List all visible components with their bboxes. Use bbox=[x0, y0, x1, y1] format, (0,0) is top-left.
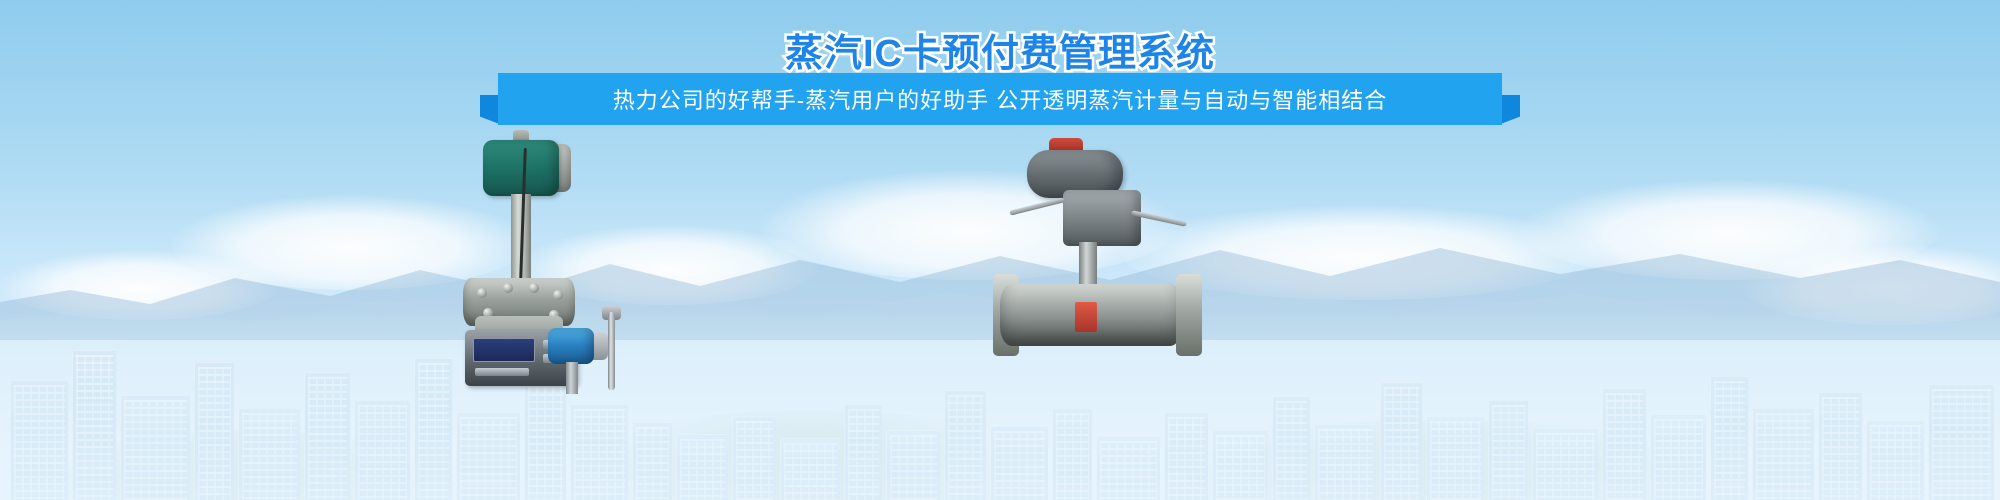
valve-stem bbox=[1079, 242, 1097, 290]
probe-rod bbox=[608, 312, 615, 390]
valve-positioner-box bbox=[1063, 190, 1141, 246]
valve-linkage-arm bbox=[1009, 197, 1065, 215]
valve-nameplate bbox=[1075, 302, 1097, 332]
pneumatic-control-valve bbox=[1005, 142, 1190, 372]
controller-display bbox=[473, 338, 535, 362]
transmitter-stem bbox=[566, 362, 578, 394]
subtitle-ribbon: 热力公司的好帮手-蒸汽用户的好助手 公开透明蒸汽计量与自动与智能相结合 bbox=[480, 73, 1520, 125]
ribbon-bar: 热力公司的好帮手-蒸汽用户的好助手 公开透明蒸汽计量与自动与智能相结合 bbox=[498, 73, 1502, 125]
controller-keypad bbox=[475, 368, 529, 376]
temperature-probe bbox=[598, 312, 626, 392]
transmitter-head bbox=[548, 328, 594, 364]
banner-subtitle: 热力公司的好帮手-蒸汽用户的好助手 公开透明蒸汽计量与自动与智能相结合 bbox=[613, 83, 1387, 115]
flowmeter-display-head bbox=[483, 140, 559, 196]
promotional-banner: 蒸汽IC卡预付费管理系统 热力公司的好帮手-蒸汽用户的好助手 公开透明蒸汽计量与… bbox=[0, 0, 2000, 500]
valve-flange-right bbox=[1176, 274, 1202, 356]
banner-title: 蒸汽IC卡预付费管理系统 bbox=[0, 22, 2000, 77]
